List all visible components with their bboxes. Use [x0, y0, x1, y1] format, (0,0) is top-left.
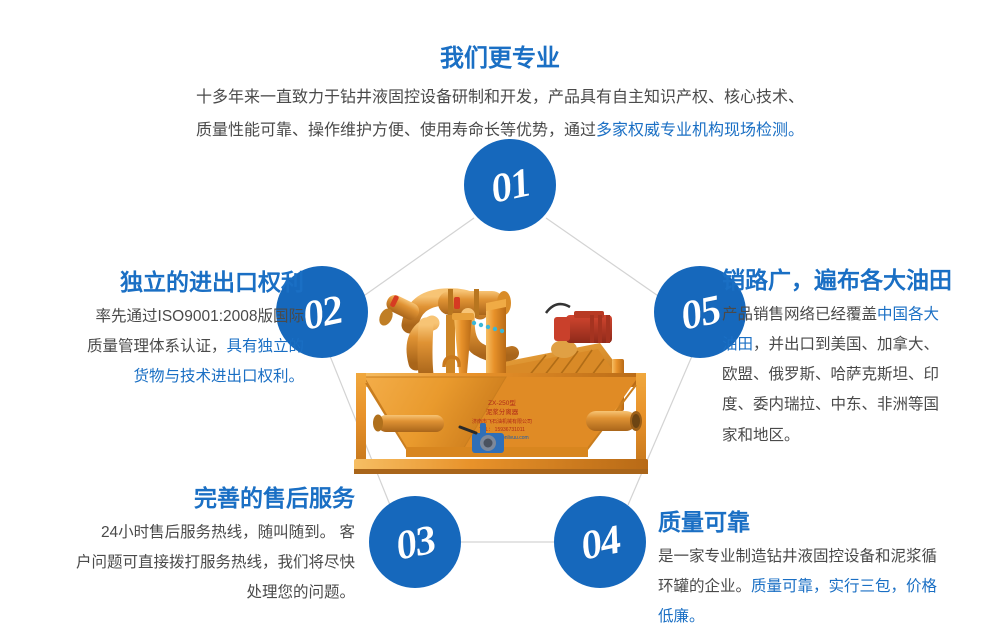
step-circle-03[interactable]: 03 [369, 496, 461, 588]
feature-body-05-line1-highlight: 中国各大 [877, 306, 939, 323]
feature-block-02: 独立的进出口权利 率先通过ISO9001:2008版国际 质量管理体系认证，具有… [14, 268, 304, 392]
feature-body-01-line2-highlight: 多家权威专业机构现场检测。 [596, 122, 804, 139]
feature-body-04-line2-highlight: 质量可靠，实行三包，价格 [751, 578, 937, 595]
feature-body-03: 24小时售后服务热线，随叫随到。 客 户问题可直接拨打服务热线，我们将尽快 处理… [10, 518, 355, 609]
feature-block-03: 完善的售后服务 24小时售后服务热线，随叫随到。 客 户问题可直接拨打服务热线，… [10, 484, 355, 608]
feature-body-03-line2: 户问题可直接拨打服务热线，我们将尽快 [10, 548, 355, 578]
feature-body-04-line3: 低廉。 [658, 602, 994, 632]
feature-body-02-line2: 质量管理体系认证，具有独立的 [14, 332, 304, 362]
feature-body-04-line1: 是一家专业制造钻井液固控设备和泥浆循 [658, 542, 994, 572]
feature-body-05-line2-highlight: 油田 [722, 336, 753, 353]
feature-heading-05: 销路广，遍布各大油田 [722, 266, 990, 295]
feature-body-01-line2-plain: 质量性能可靠、操作维护方便、使用寿命长等优势，通过 [196, 122, 596, 139]
feature-heading-04: 质量可靠 [658, 508, 994, 537]
feature-body-05-line1: 产品销售网络已经覆盖中国各大 [722, 300, 990, 330]
step-number-01: 01 [487, 161, 534, 209]
infographic-stage: ZX-250型 泥浆分离器 济南市飞石油机械有限公司 TEL： 15936731… [0, 0, 1000, 642]
feature-body-02-line3: 货物与技术进出口权利。 [14, 362, 304, 392]
feature-block-05: 销路广，遍布各大油田 产品销售网络已经覆盖中国各大 油田，并出口到美国、加拿大、… [722, 266, 990, 451]
feature-body-04: 是一家专业制造钻井液固控设备和泥浆循 环罐的企业。质量可靠，实行三包，价格 低廉… [658, 542, 994, 633]
feature-body-02-line2-plain: 质量管理体系认证， [87, 338, 227, 355]
feature-body-05-line4: 度、委内瑞拉、中东、非洲等国 [722, 390, 990, 420]
feature-body-01: 十多年来一直致力于钻井液固控设备研制和开发，产品具有自主知识产权、核心技术、 质… [150, 82, 850, 148]
feature-body-05-line2-plain: ，并出口到美国、加拿大、 [753, 336, 939, 353]
feature-body-03-line1: 24小时售后服务热线，随叫随到。 客 [10, 518, 355, 548]
feature-heading-02: 独立的进出口权利 [14, 268, 304, 297]
feature-body-05: 产品销售网络已经覆盖中国各大 油田，并出口到美国、加拿大、 欧盟、俄罗斯、哈萨克… [722, 300, 990, 451]
step-number-04: 04 [577, 518, 624, 566]
feature-body-03-line3: 处理您的问题。 [10, 578, 355, 608]
step-number-03: 03 [392, 518, 439, 566]
step-number-02: 02 [299, 288, 346, 336]
vibration-motor [546, 304, 612, 343]
feature-heading-01: 我们更专业 [150, 44, 850, 74]
feature-body-02: 率先通过ISO9001:2008版国际 质量管理体系认证，具有独立的 货物与技术… [14, 302, 304, 393]
step-number-05: 05 [677, 288, 724, 336]
feature-body-02-line1: 率先通过ISO9001:2008版国际 [14, 302, 304, 332]
feature-body-05-line2: 油田，并出口到美国、加拿大、 [722, 330, 990, 360]
machine-illustration: ZX-250型 泥浆分离器 济南市飞石油机械有限公司 TEL： 15936731… [350, 255, 650, 490]
feature-block-01: 我们更专业 十多年来一直致力于钻井液固控设备研制和开发，产品具有自主知识产权、核… [150, 44, 850, 148]
feature-body-01-line1: 十多年来一直致力于钻井液固控设备研制和开发，产品具有自主知识产权、核心技术、 [150, 82, 850, 115]
feature-body-04-line2: 环罐的企业。质量可靠，实行三包，价格 [658, 572, 994, 602]
feature-block-04: 质量可靠 是一家专业制造钻井液固控设备和泥浆循 环罐的企业。质量可靠，实行三包，… [658, 508, 994, 632]
hopper-tank: ZX-250型 泥浆分离器 济南市飞石油机械有限公司 TEL： 15936731… [354, 357, 648, 474]
feature-body-05-line3: 欧盟、俄罗斯、哈萨克斯坦、印 [722, 360, 990, 390]
feature-body-01-line2: 质量性能可靠、操作维护方便、使用寿命长等优势，通过多家权威专业机构现场检测。 [150, 115, 850, 148]
feature-heading-03: 完善的售后服务 [10, 484, 355, 513]
feature-body-02-line2-highlight: 具有独立的 [226, 338, 304, 355]
step-circle-04[interactable]: 04 [554, 496, 646, 588]
svg-text:泥浆分离器: 泥浆分离器 [486, 407, 519, 416]
feature-body-04-line2-plain: 环罐的企业。 [658, 578, 751, 595]
svg-text:ZX-250型: ZX-250型 [488, 398, 516, 407]
feature-body-05-line5: 家和地区。 [722, 421, 990, 451]
svg-text:TEL： 15936731011: TEL： 15936731011 [479, 427, 525, 433]
feature-body-05-line1-plain: 产品销售网络已经覆盖 [722, 306, 877, 323]
step-circle-01[interactable]: 01 [464, 139, 556, 231]
